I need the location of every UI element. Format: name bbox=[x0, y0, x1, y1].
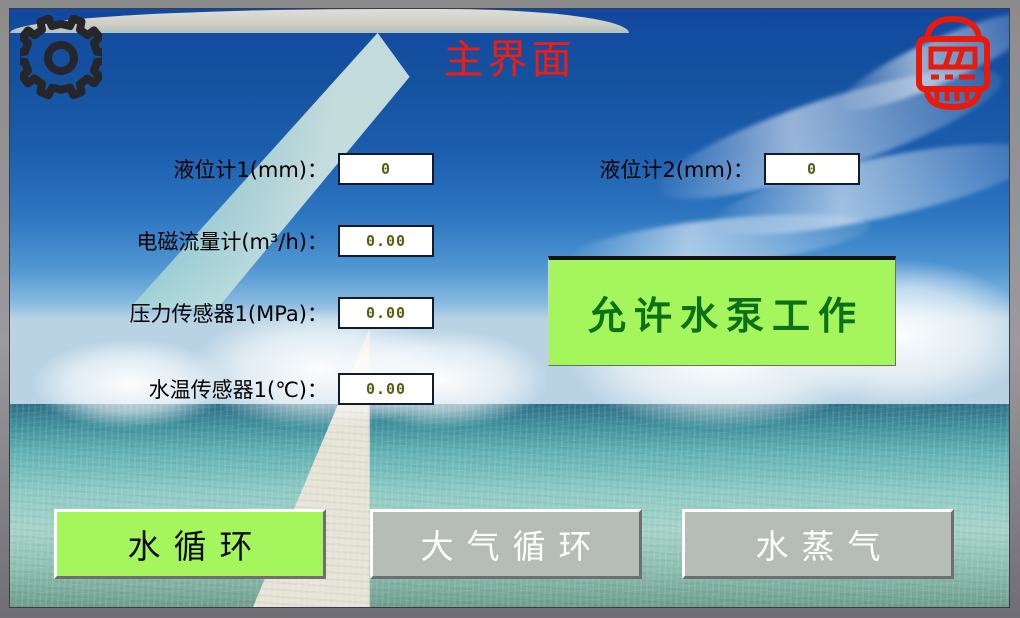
readout-electromagnetic-flowmeter: 电磁流量计(m³/h)： 0.00 bbox=[54, 225, 434, 257]
controller-device-icon[interactable] bbox=[909, 15, 997, 115]
readout-label: 水温传感器1(℃)： bbox=[149, 374, 328, 404]
mode-button-label: 水蒸气 bbox=[743, 520, 894, 568]
readout-pressure-sensor-1: 压力传感器1(MPa)： 0.00 bbox=[54, 297, 434, 329]
readout-value[interactable]: 0.00 bbox=[338, 225, 434, 257]
pump-enable-status-label: 允许水泵工作 bbox=[580, 285, 864, 340]
mode-button-air-cycle[interactable]: 大气循环 bbox=[370, 509, 642, 579]
mode-button-label: 水循环 bbox=[115, 520, 266, 568]
readout-label: 压力传感器1(MPa)： bbox=[130, 298, 328, 328]
mode-button-steam[interactable]: 水蒸气 bbox=[682, 509, 954, 579]
page-title: 主界面 bbox=[10, 27, 1009, 85]
readout-water-temperature-sensor-1: 水温传感器1(℃)： 0.00 bbox=[54, 373, 434, 405]
mode-button-water-cycle[interactable]: 水循环 bbox=[54, 509, 326, 579]
readout-value[interactable]: 0 bbox=[764, 153, 860, 185]
readout-value[interactable]: 0 bbox=[338, 153, 434, 185]
readout-level-meter-2: 液位计2(mm)： 0 bbox=[490, 153, 860, 185]
pump-enable-status-panel[interactable]: 允许水泵工作 bbox=[548, 256, 896, 366]
application-window: 主界面 液位计1(mm)： 0 液位计2(mm)： 0 电磁流量计(m³/h)：… bbox=[0, 0, 1020, 618]
readout-label: 液位计2(mm)： bbox=[599, 154, 754, 184]
readout-value[interactable]: 0.00 bbox=[338, 373, 434, 405]
readout-label: 液位计1(mm)： bbox=[173, 154, 328, 184]
hmi-screen: 主界面 液位计1(mm)： 0 液位计2(mm)： 0 电磁流量计(m³/h)：… bbox=[9, 8, 1010, 608]
readout-level-meter-1: 液位计1(mm)： 0 bbox=[54, 153, 434, 185]
readout-label: 电磁流量计(m³/h)： bbox=[136, 226, 328, 256]
mode-button-label: 大气循环 bbox=[408, 520, 605, 568]
readout-value[interactable]: 0.00 bbox=[338, 297, 434, 329]
